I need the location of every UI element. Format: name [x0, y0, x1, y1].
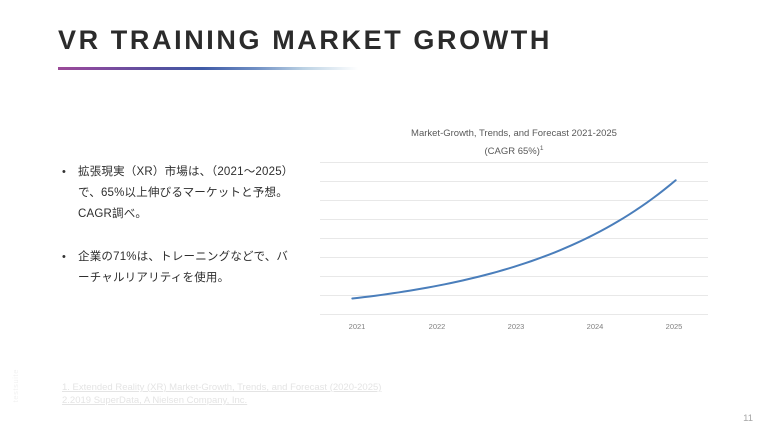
- title-accent-rule: [58, 67, 358, 70]
- side-watermark: testsuite: [11, 369, 20, 402]
- footnote-list: 1. Extended Reality (XR) Market-Growth, …: [62, 381, 381, 407]
- x-tick-label: 2023: [508, 322, 525, 331]
- list-item: • 拡張現実（XR）市場は、（2021〜2025）で、65%以上伸びるマーケット…: [62, 162, 297, 225]
- footnote-link[interactable]: 2.2019 SuperData, A Nielsen Company, Inc…: [62, 394, 381, 407]
- chart-plot-area: [320, 162, 708, 317]
- bullet-text: 企業の71%は、トレーニングなどで、バーチャルリアリティを使用。: [78, 247, 297, 289]
- bullet-text: 拡張現実（XR）市場は、（2021〜2025）で、65%以上伸びるマーケットと予…: [78, 162, 297, 225]
- footnote-link[interactable]: 1. Extended Reality (XR) Market-Growth, …: [62, 381, 381, 394]
- bullet-marker-icon: •: [62, 247, 78, 268]
- market-growth-chart: Market-Growth, Trends, and Forecast 2021…: [318, 126, 710, 341]
- series-line-market-growth: [352, 180, 675, 298]
- page-title: VR TRAINING MARKET GROWTH: [58, 25, 552, 56]
- chart-title-cagr: (CAGR 65%): [484, 146, 539, 157]
- bullet-list: • 拡張現実（XR）市場は、（2021〜2025）で、65%以上伸びるマーケット…: [62, 162, 297, 311]
- list-item: • 企業の71%は、トレーニングなどで、バーチャルリアリティを使用。: [62, 247, 297, 289]
- x-tick-label: 2025: [666, 322, 683, 331]
- x-tick-label: 2021: [349, 322, 366, 331]
- chart-title: Market-Growth, Trends, and Forecast 2021…: [318, 126, 710, 159]
- page-number: 11: [743, 413, 753, 424]
- x-tick-label: 2022: [429, 322, 446, 331]
- chart-title-footnote-ref: 1: [540, 145, 544, 152]
- chart-title-line-2: (CAGR 65%)1: [318, 141, 710, 159]
- x-tick-label: 2024: [587, 322, 604, 331]
- chart-title-line-1: Market-Growth, Trends, and Forecast 2021…: [318, 126, 710, 141]
- slide-canvas: VR TRAINING MARKET GROWTH • 拡張現実（XR）市場は、…: [0, 0, 775, 436]
- bullet-marker-icon: •: [62, 162, 78, 183]
- chart-line-svg: [320, 162, 708, 317]
- chart-x-axis: 2021 2022 2023 2024 2025: [320, 322, 708, 336]
